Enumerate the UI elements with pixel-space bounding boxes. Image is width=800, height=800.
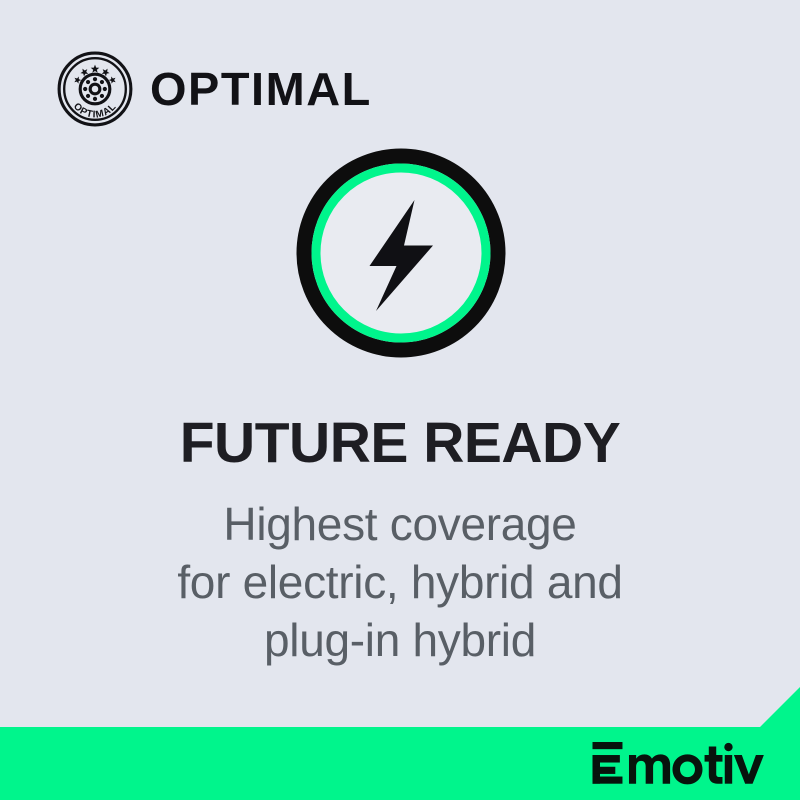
optimal-seal-icon: OPTIMAL (56, 50, 134, 128)
page-title: FUTURE READY (0, 414, 800, 474)
subhead-line-3: plug-in hybrid (0, 612, 800, 670)
brand-header: OPTIMAL OPTIMAL (56, 50, 367, 128)
emotive-wordmark-logo (591, 738, 766, 788)
promo-card: OPTIMAL OPTIMAL FUTURE READY Highest cov… (0, 0, 800, 800)
subhead-line-2: for electric, hybrid and (0, 554, 800, 612)
brand-wordmark: OPTIMAL (150, 66, 372, 112)
lightning-bolt-in-circle-icon (296, 148, 506, 358)
headline-block: FUTURE READY Highest coverage for electr… (0, 414, 800, 670)
subhead-text: Highest coverage for electric, hybrid an… (0, 496, 800, 670)
subhead-line-1: Highest coverage (0, 496, 800, 554)
